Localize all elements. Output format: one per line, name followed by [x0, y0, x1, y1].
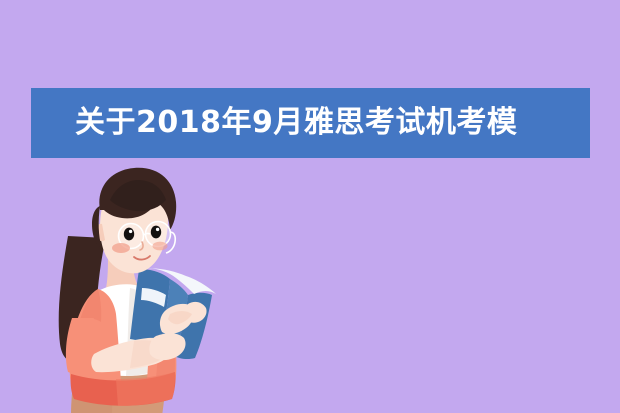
cheek-right — [153, 242, 168, 251]
eye-left — [124, 228, 134, 241]
eye-left-highlight — [129, 230, 132, 233]
eye-right-highlight — [156, 228, 159, 231]
illustration-woman-reading — [38, 158, 248, 413]
cheek-left — [112, 243, 130, 253]
eye-right — [151, 226, 161, 239]
title-banner: 关于2018年9月雅思考试机考模 — [31, 88, 590, 158]
sleeve-left-shape — [66, 318, 94, 374]
screenshot-root: 关于2018年9月雅思考试机考模 — [0, 0, 620, 413]
banner-title-text: 关于2018年9月雅思考试机考模 — [31, 108, 517, 138]
